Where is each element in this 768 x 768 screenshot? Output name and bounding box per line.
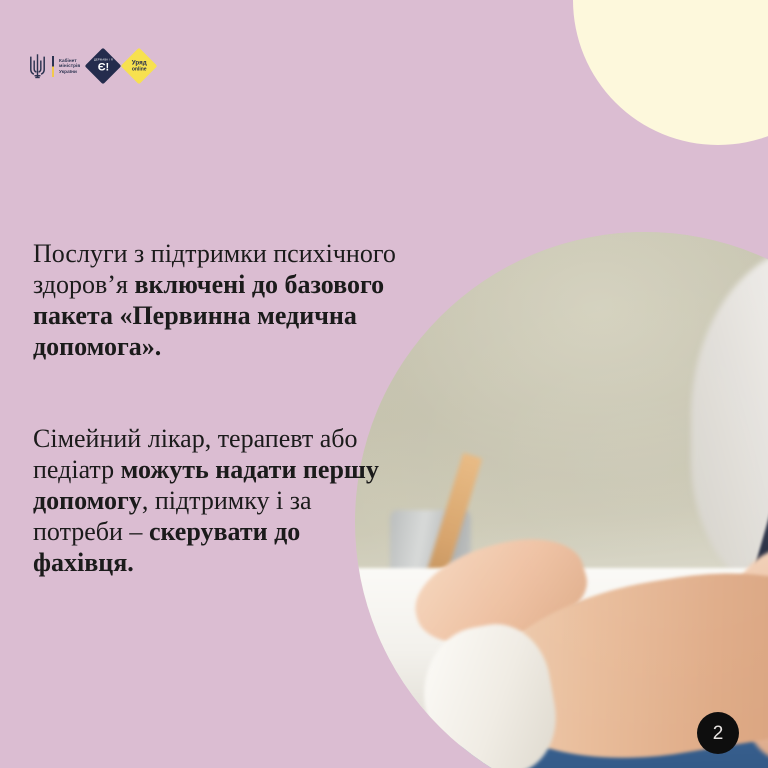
page-number-badge: 2: [697, 712, 739, 754]
cream-circle-decoration: [573, 0, 768, 145]
body-copy: Послуги з підтримки психічного здоров’я …: [33, 238, 405, 578]
diia-logo[interactable]: ДЕРЖАВА І Я Є!: [85, 48, 122, 85]
uryad-online-line-1: Уряд: [132, 60, 147, 66]
consultation-photo: [355, 232, 768, 768]
logo-divider-rule: [52, 56, 54, 77]
cabinet-of-ministers-logo: Кабінет міністрів України: [28, 53, 80, 79]
paragraph-2: Сімейний лікар, терапевт або педіатр мож…: [33, 423, 405, 578]
page-number-label: 2: [713, 724, 724, 743]
photo-haze-overlay: [355, 232, 768, 768]
logo-bar: Кабінет міністрів України ДЕРЖАВА І Я Є!…: [28, 48, 152, 84]
diia-logo-inner: ДЕРЖАВА І Я Є!: [94, 59, 113, 73]
ukraine-trident-emblem-icon: [28, 53, 47, 79]
paragraph-1: Послуги з підтримки психічного здоров’я …: [33, 238, 405, 362]
uryad-online-line-2: online: [132, 67, 147, 72]
uryad-online-logo-inner: Уряд online: [132, 60, 147, 72]
cabinet-of-ministers-label: Кабінет міністрів України: [59, 58, 80, 75]
photo-circle: [355, 232, 768, 768]
uryad-online-logo[interactable]: Уряд online: [121, 48, 158, 85]
diia-mark: Є!: [94, 62, 113, 73]
slide-canvas: Кабінет міністрів України ДЕРЖАВА І Я Є!…: [0, 0, 768, 768]
